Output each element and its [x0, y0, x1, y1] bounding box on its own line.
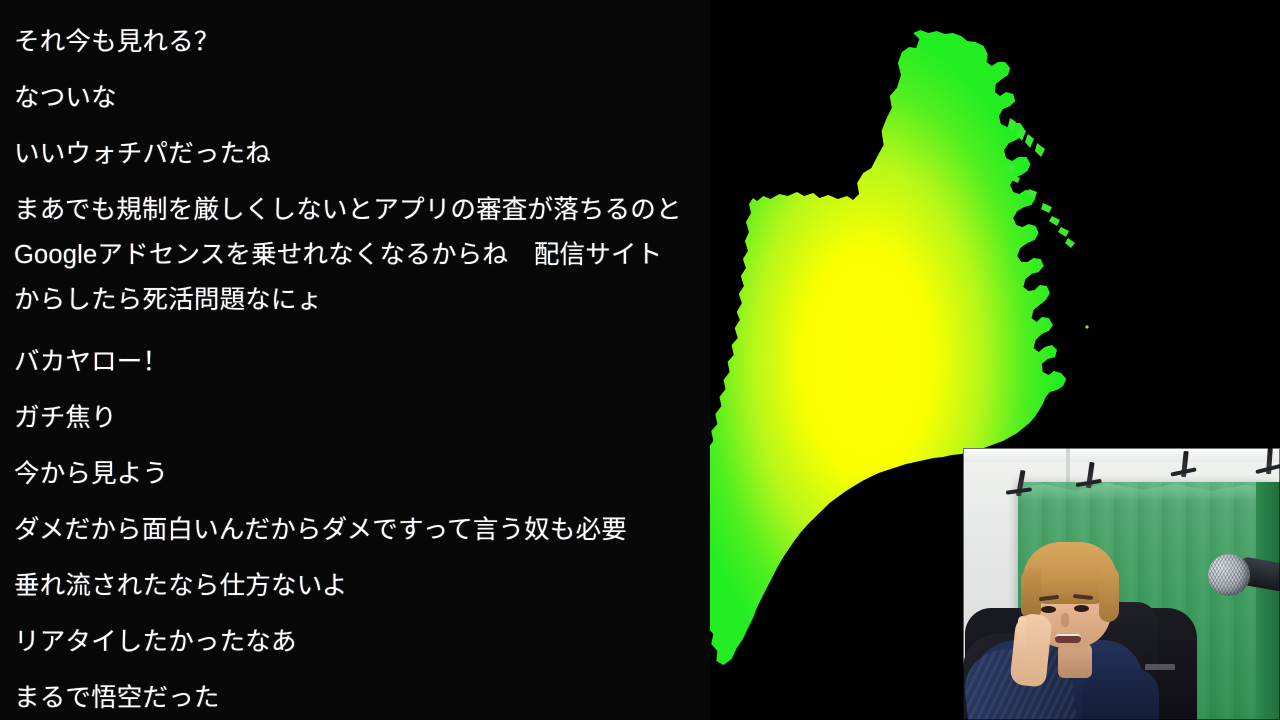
chat-message: ガチ焦り: [14, 390, 692, 446]
offshore-speck: [1085, 325, 1088, 328]
person-hair-left: [1021, 568, 1041, 620]
person-nose: [1061, 613, 1069, 627]
person-right-shoulder: [1081, 668, 1159, 720]
chat-message: なついな: [14, 70, 692, 126]
chat-message: まるで悟空だった: [14, 670, 692, 720]
chat-message: リアタイしたかったなあ: [14, 614, 692, 670]
person-neck: [1058, 644, 1092, 678]
chat-message: ダメだから面白いんだからダメですって言う奴も必要: [14, 502, 692, 558]
stream-overlay-stage: それ今も見れる？ なついな いいウォチパだったね まあでも規制を厳しくしないとア…: [0, 0, 1280, 720]
person-hair-right: [1099, 566, 1119, 622]
streamer-webcam[interactable]: [963, 448, 1280, 720]
person-eye-left: [1041, 606, 1056, 613]
chat-message: いいウォチパだったね: [14, 126, 692, 182]
chat-message: 垂れ流されたなら仕方ないよ: [14, 558, 692, 614]
person-eye-right: [1074, 605, 1089, 612]
live-chat-panel[interactable]: それ今も見れる？ なついな いいウォチパだったね まあでも規制を厳しくしないとア…: [0, 0, 710, 720]
chat-message: バカヤロー！: [14, 334, 692, 390]
person-mouth: [1055, 634, 1081, 643]
chat-message: それ今も見れる？: [14, 14, 692, 70]
chat-message: まあでも規制を厳しくしないとアプリの審査が落ちるのとGoogleアドセンスを乗せ…: [14, 188, 686, 323]
microphone-icon: [1208, 554, 1250, 596]
microphone-mesh: [1208, 554, 1250, 596]
chat-message: 今から見よう: [14, 446, 692, 502]
